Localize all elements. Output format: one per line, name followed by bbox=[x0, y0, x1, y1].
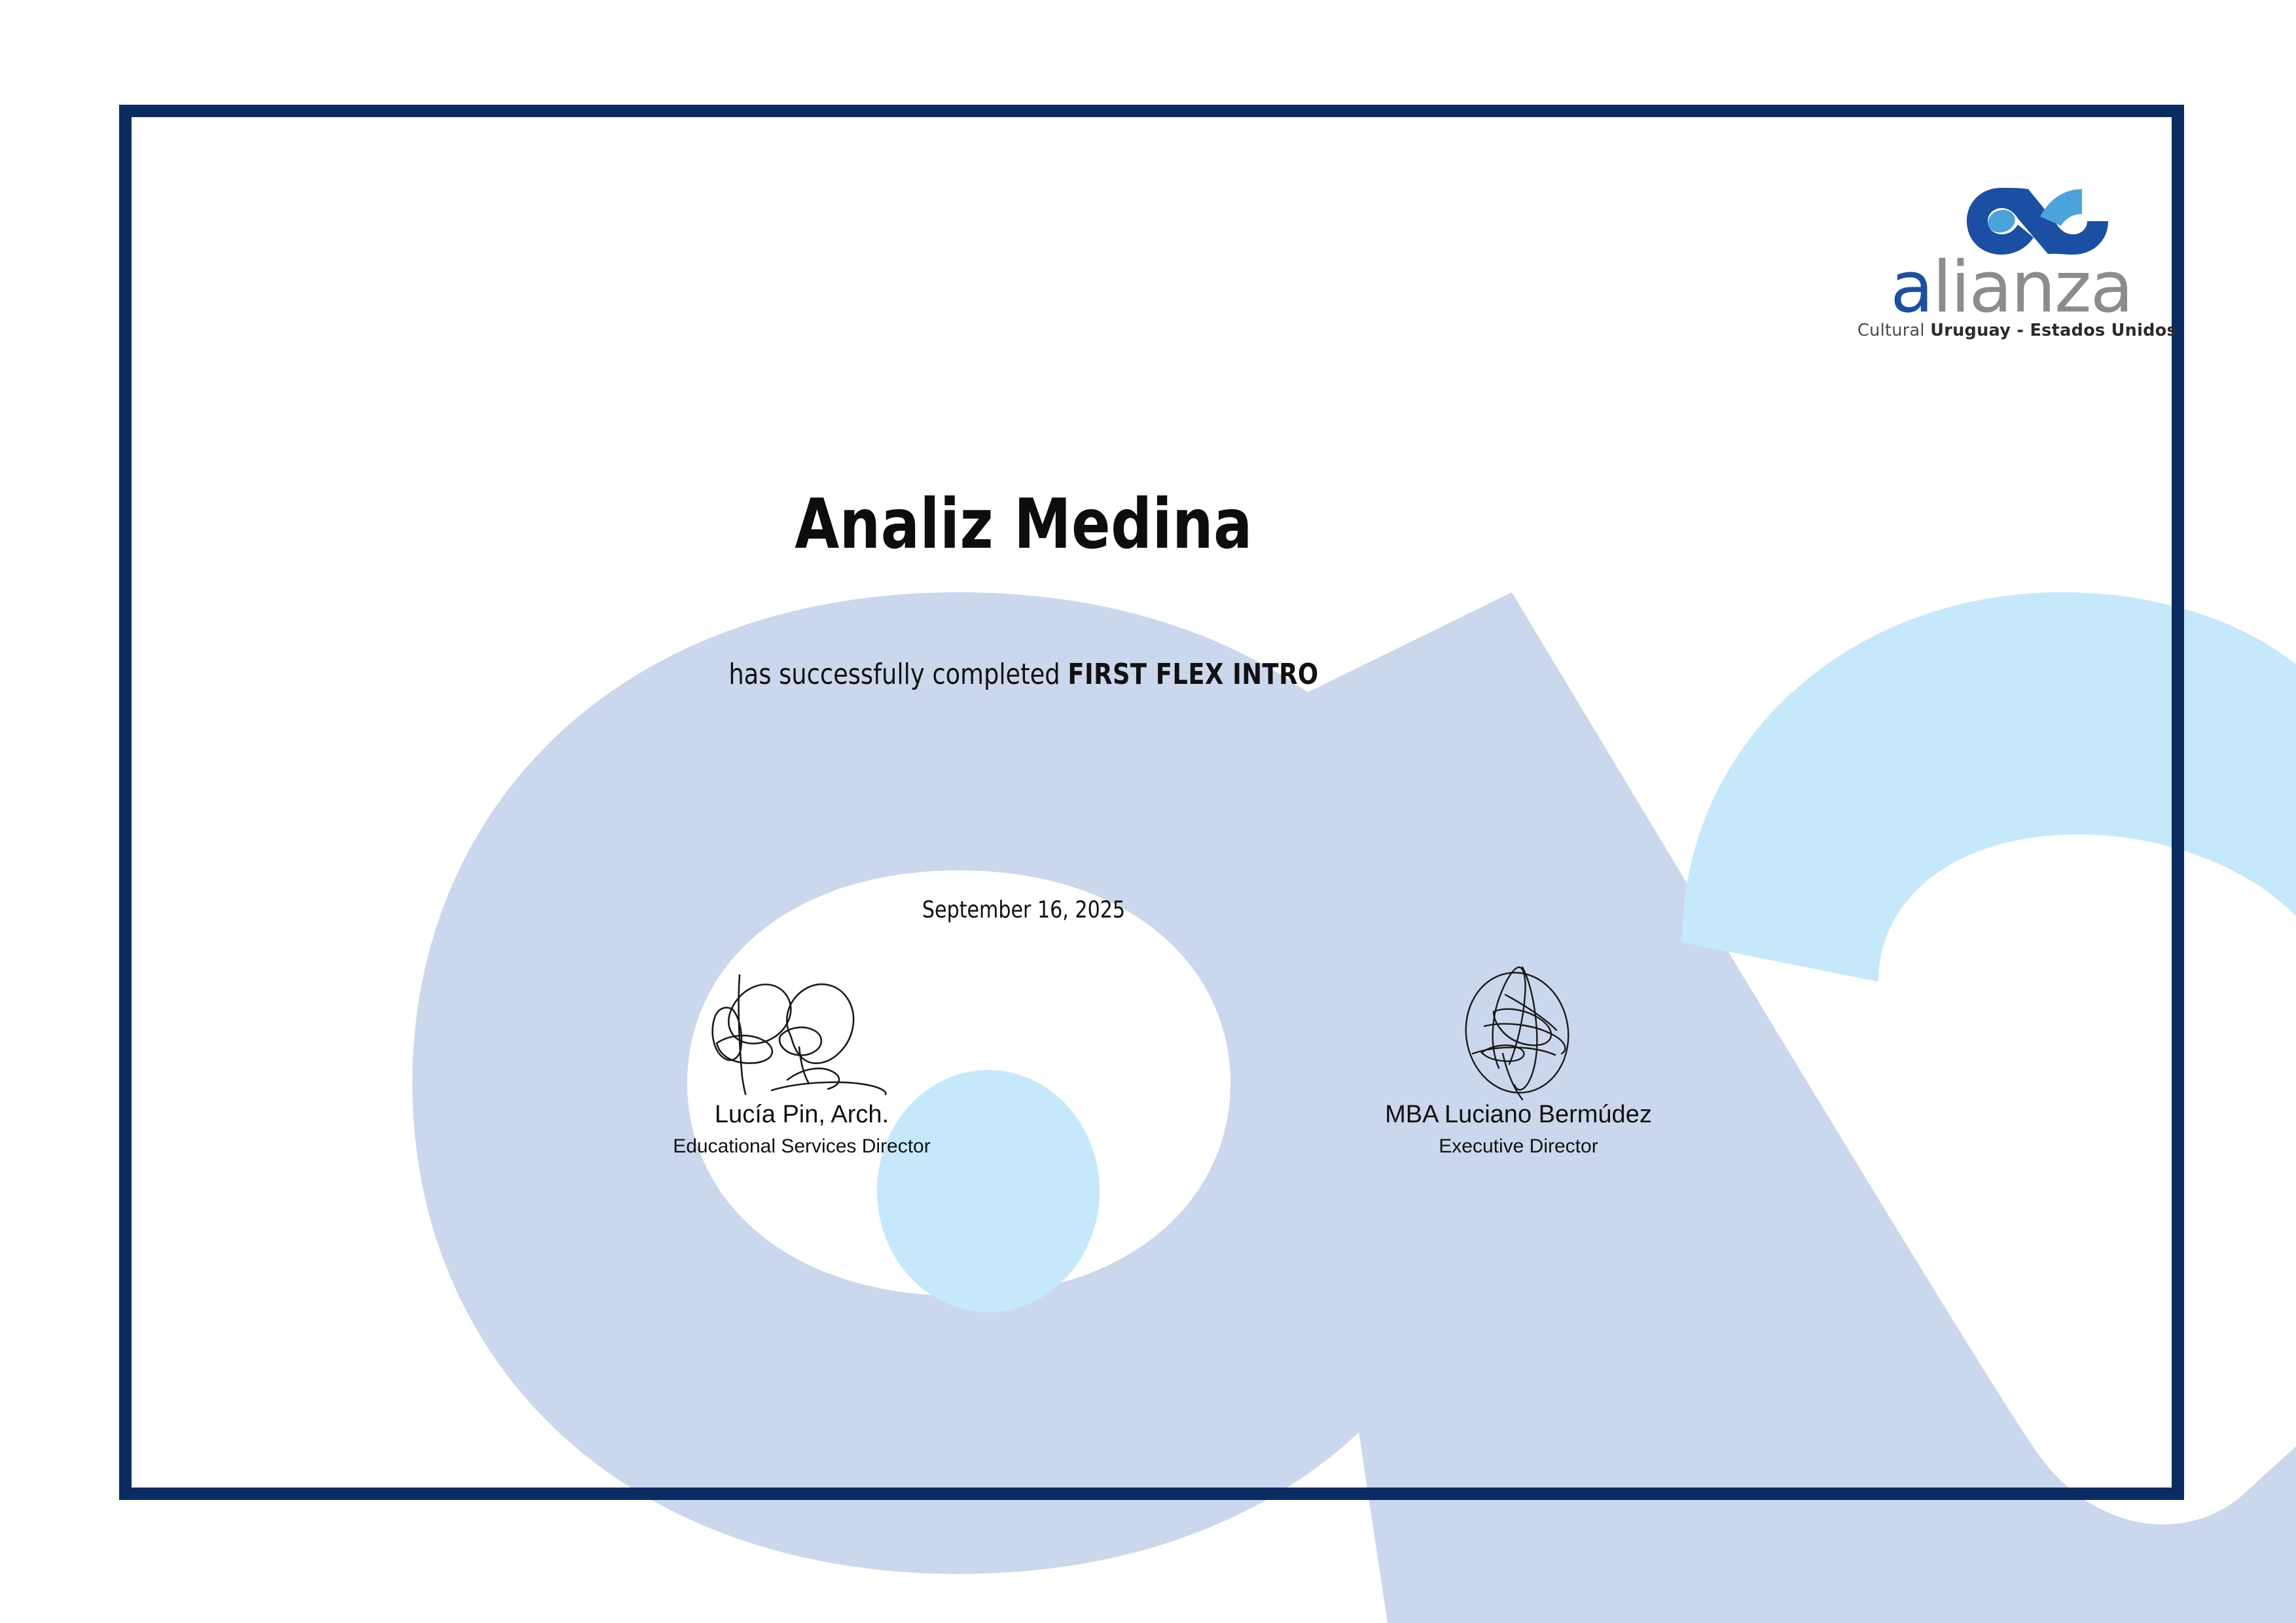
infinity-stroke bbox=[1967, 188, 2108, 255]
alianza-wordmark: alianza bbox=[1857, 258, 2165, 318]
recipient-name: Analiz Medina bbox=[0, 484, 2091, 564]
completion-statement: has successfully completed FIRST FLEX IN… bbox=[0, 658, 2091, 691]
signature-luciano-bermudez-icon bbox=[1309, 949, 1728, 1113]
wordmark-first-letter: a bbox=[1890, 247, 1932, 329]
watermark-diagonal-stroke bbox=[1251, 592, 2296, 1623]
completion-prefix: has successfully completed bbox=[728, 658, 1067, 691]
signatory-title: Executive Director bbox=[1309, 1135, 1728, 1158]
watermark-cyan-oval bbox=[877, 1070, 1100, 1312]
signatory-name: Lucía Pin, Arch. bbox=[592, 1101, 1011, 1129]
issue-date: September 16, 2025 bbox=[0, 897, 2091, 923]
signatory-title: Educational Services Director bbox=[592, 1135, 1011, 1158]
signatory-name: MBA Luciano Bermúdez bbox=[1309, 1101, 1728, 1129]
course-name: FIRST FLEX INTRO bbox=[1067, 658, 1318, 691]
signature-block-right: MBA Luciano Bermúdez Executive Director bbox=[1309, 949, 1728, 1158]
watermark-cyan-arc bbox=[1682, 592, 2296, 982]
signature-block-left: Lucía Pin, Arch. Educational Services Di… bbox=[592, 949, 1011, 1158]
watermark-loop-ring bbox=[412, 592, 1505, 1574]
wordmark-rest: lianza bbox=[1932, 247, 2132, 329]
signature-lucia-pin-icon bbox=[592, 949, 1011, 1113]
alianza-logo: alianza Cultural Uruguay - Estados Unido… bbox=[1857, 173, 2165, 340]
